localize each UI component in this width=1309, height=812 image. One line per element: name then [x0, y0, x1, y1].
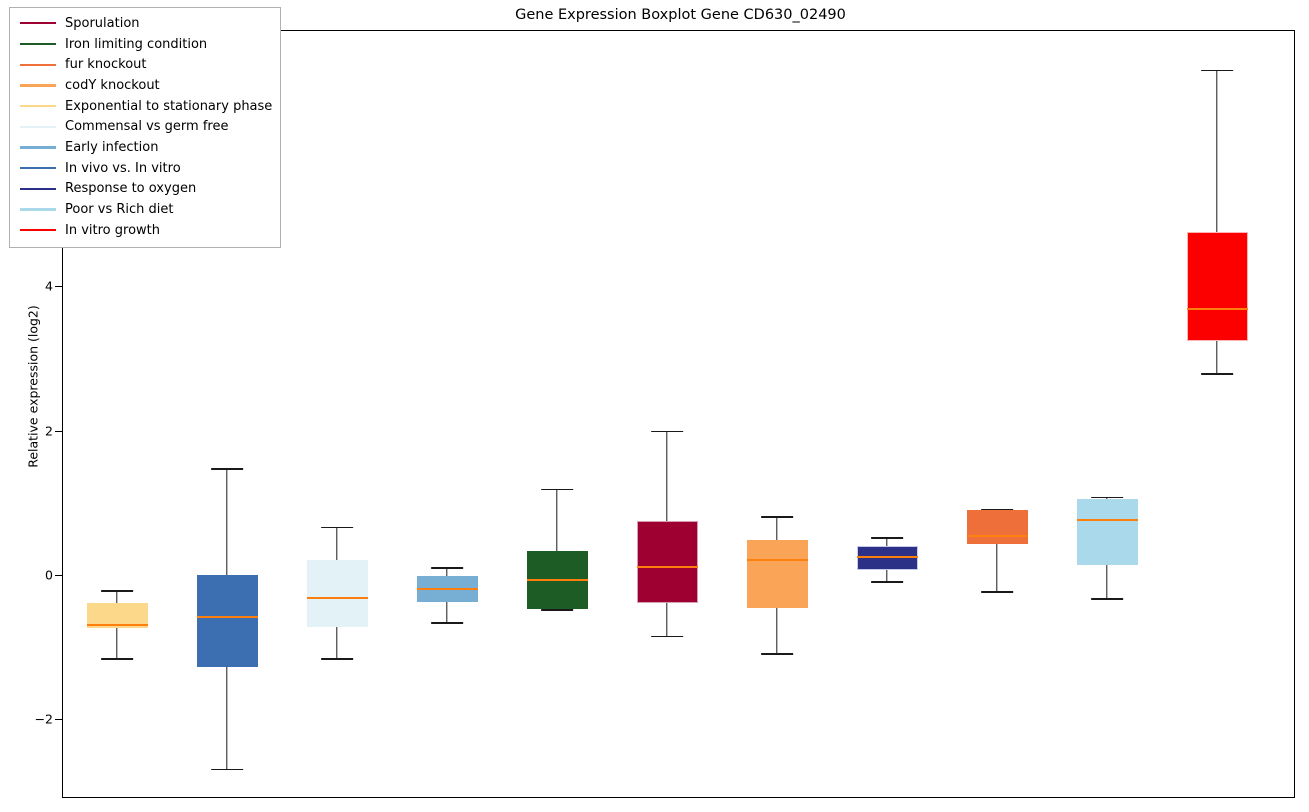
whisker-upper [226, 469, 227, 575]
whisker-lower [446, 602, 447, 623]
boxplot-box-group[interactable] [747, 31, 808, 797]
median-line [747, 559, 808, 561]
cap-lower [101, 658, 133, 660]
whisker-upper [776, 517, 777, 540]
y-tick-mark [55, 431, 62, 432]
legend-item[interactable]: fur knockout [18, 54, 272, 75]
median-line [637, 566, 698, 568]
legend-item-label: Response to oxygen [65, 182, 196, 195]
median-line [417, 588, 478, 590]
legend-item-label: In vitro growth [65, 224, 160, 237]
legend-color-swatch [20, 188, 56, 190]
y-tick-label: 2 [0, 423, 53, 438]
cap-lower [431, 622, 463, 624]
whisker-lower [116, 628, 117, 659]
whisker-lower [1106, 565, 1107, 599]
whisker-lower [1216, 341, 1217, 373]
legend-item-label: fur knockout [65, 58, 147, 71]
boxplot-box-group[interactable] [417, 31, 478, 797]
boxplot-box-group[interactable] [527, 31, 588, 797]
legend-item[interactable]: Iron limiting condition [18, 34, 272, 55]
cap-upper [321, 527, 353, 529]
legend-color-swatch [20, 146, 56, 148]
legend-color-swatch [20, 64, 56, 66]
box-rect [967, 510, 1028, 545]
legend-color-swatch [20, 105, 56, 107]
legend-item-label: Commensal vs germ free [65, 120, 228, 133]
whisker-upper [886, 538, 887, 546]
whisker-lower [226, 667, 227, 770]
whisker-upper [336, 528, 337, 560]
y-tick-mark [55, 286, 62, 287]
legend-color-swatch [20, 126, 56, 128]
boxplot-figure: Gene Expression Boxplot Gene CD630_02490… [0, 0, 1309, 812]
boxplot-box-group[interactable] [1187, 31, 1248, 797]
box-rect [1077, 499, 1138, 565]
boxplot-box-group[interactable] [637, 31, 698, 797]
legend-item[interactable]: Commensal vs germ free [18, 116, 272, 137]
boxplot-box-group[interactable] [307, 31, 368, 797]
legend-item-label: Early infection [65, 141, 158, 154]
cap-lower [211, 769, 243, 771]
legend-item[interactable]: Exponential to stationary phase [18, 96, 272, 117]
whisker-upper [116, 591, 117, 603]
cap-upper [761, 516, 793, 518]
median-line [1077, 519, 1138, 521]
y-tick-label: −2 [0, 712, 53, 727]
cap-upper [1201, 70, 1233, 72]
cap-upper [431, 567, 463, 569]
legend-item-label: Exponential to stationary phase [65, 100, 272, 113]
cap-upper [871, 537, 903, 539]
median-line [87, 624, 148, 626]
cap-upper [101, 590, 133, 592]
median-line [967, 535, 1028, 537]
whisker-upper [666, 432, 667, 522]
y-tick-mark [55, 719, 62, 720]
cap-lower [541, 609, 573, 611]
box-rect [857, 546, 918, 571]
boxplot-box-group[interactable] [967, 31, 1028, 797]
box-rect [307, 560, 368, 626]
cap-lower [981, 591, 1013, 593]
cap-upper [211, 468, 243, 470]
legend-item-label: Poor vs Rich diet [65, 203, 173, 216]
legend-item[interactable]: In vitro growth [18, 220, 272, 241]
legend-item-label: Iron limiting condition [65, 38, 207, 51]
median-line [307, 597, 368, 599]
legend-color-swatch [20, 229, 56, 231]
legend-item[interactable]: codY knockout [18, 75, 272, 96]
box-rect [747, 540, 808, 609]
whisker-upper [1216, 71, 1217, 232]
median-line [857, 556, 918, 558]
legend-item[interactable]: Poor vs Rich diet [18, 199, 272, 220]
cap-lower [321, 658, 353, 660]
whisker-lower [776, 608, 777, 653]
median-line [1187, 308, 1248, 310]
legend-color-swatch [20, 84, 56, 86]
legend-item-label: codY knockout [65, 79, 160, 92]
whisker-lower [336, 627, 337, 659]
legend-item[interactable]: Response to oxygen [18, 179, 272, 200]
legend-color-swatch [20, 22, 56, 24]
legend-item[interactable]: Sporulation [18, 13, 272, 34]
legend-item[interactable]: In vivo vs. In vitro [18, 158, 272, 179]
legend-item-label: In vivo vs. In vitro [65, 162, 181, 175]
whisker-lower [666, 603, 667, 637]
box-rect [197, 575, 258, 667]
whisker-upper [556, 489, 557, 550]
cap-lower [1091, 598, 1123, 600]
median-line [197, 616, 258, 618]
y-tick-mark [55, 575, 62, 576]
y-tick-label: 4 [0, 279, 53, 294]
box-rect [637, 521, 698, 603]
whisker-lower [996, 544, 997, 592]
boxplot-box-group[interactable] [1077, 31, 1138, 797]
legend-color-swatch [20, 167, 56, 169]
legend-item-label: Sporulation [65, 17, 140, 30]
cap-lower [871, 581, 903, 583]
box-rect [1187, 232, 1248, 342]
cap-lower [761, 653, 793, 655]
cap-lower [1201, 373, 1233, 375]
median-line [527, 579, 588, 581]
cap-upper [541, 489, 573, 491]
whisker-upper [446, 568, 447, 576]
boxplot-box-group[interactable] [857, 31, 918, 797]
legend-color-swatch [20, 43, 56, 45]
y-tick-label: 0 [0, 568, 53, 583]
chart-title-text: Gene Expression Boxplot Gene CD630_02490 [515, 7, 846, 23]
legend-item[interactable]: Early infection [18, 137, 272, 158]
cap-lower [651, 636, 683, 638]
legend: SporulationIron limiting conditionfur kn… [9, 7, 281, 248]
cap-upper [651, 431, 683, 433]
legend-color-swatch [20, 208, 56, 210]
